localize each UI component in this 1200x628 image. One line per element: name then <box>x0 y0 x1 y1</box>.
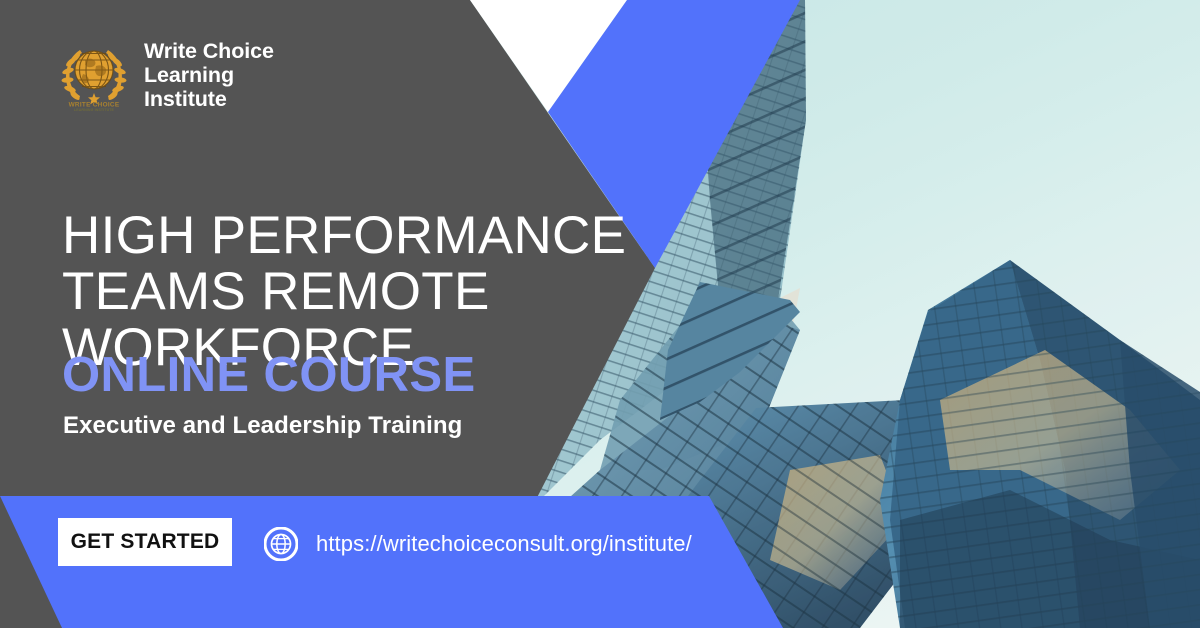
website-url: https://writechoiceconsult.org/institute… <box>316 531 692 557</box>
globe-icon <box>264 527 298 561</box>
get-started-button[interactable]: GET STARTED <box>58 518 232 566</box>
brand-logo[interactable]: WRITE CHOICE LEARNING INSTITUTE Write Ch… <box>58 38 274 112</box>
tagline: Executive and Leadership Training <box>63 411 462 441</box>
brand-name: Write Choice Learning Institute <box>144 39 274 111</box>
emblem-subcaption: LEARNING INSTITUTE <box>74 108 115 112</box>
website-link[interactable]: https://writechoiceconsult.org/institute… <box>264 527 692 561</box>
course-type-label: ONLINE COURSE <box>62 348 476 402</box>
promo-banner: WRITE CHOICE LEARNING INSTITUTE Write Ch… <box>0 0 1200 628</box>
globe-laurel-wreath-icon: WRITE CHOICE LEARNING INSTITUTE <box>58 38 130 112</box>
